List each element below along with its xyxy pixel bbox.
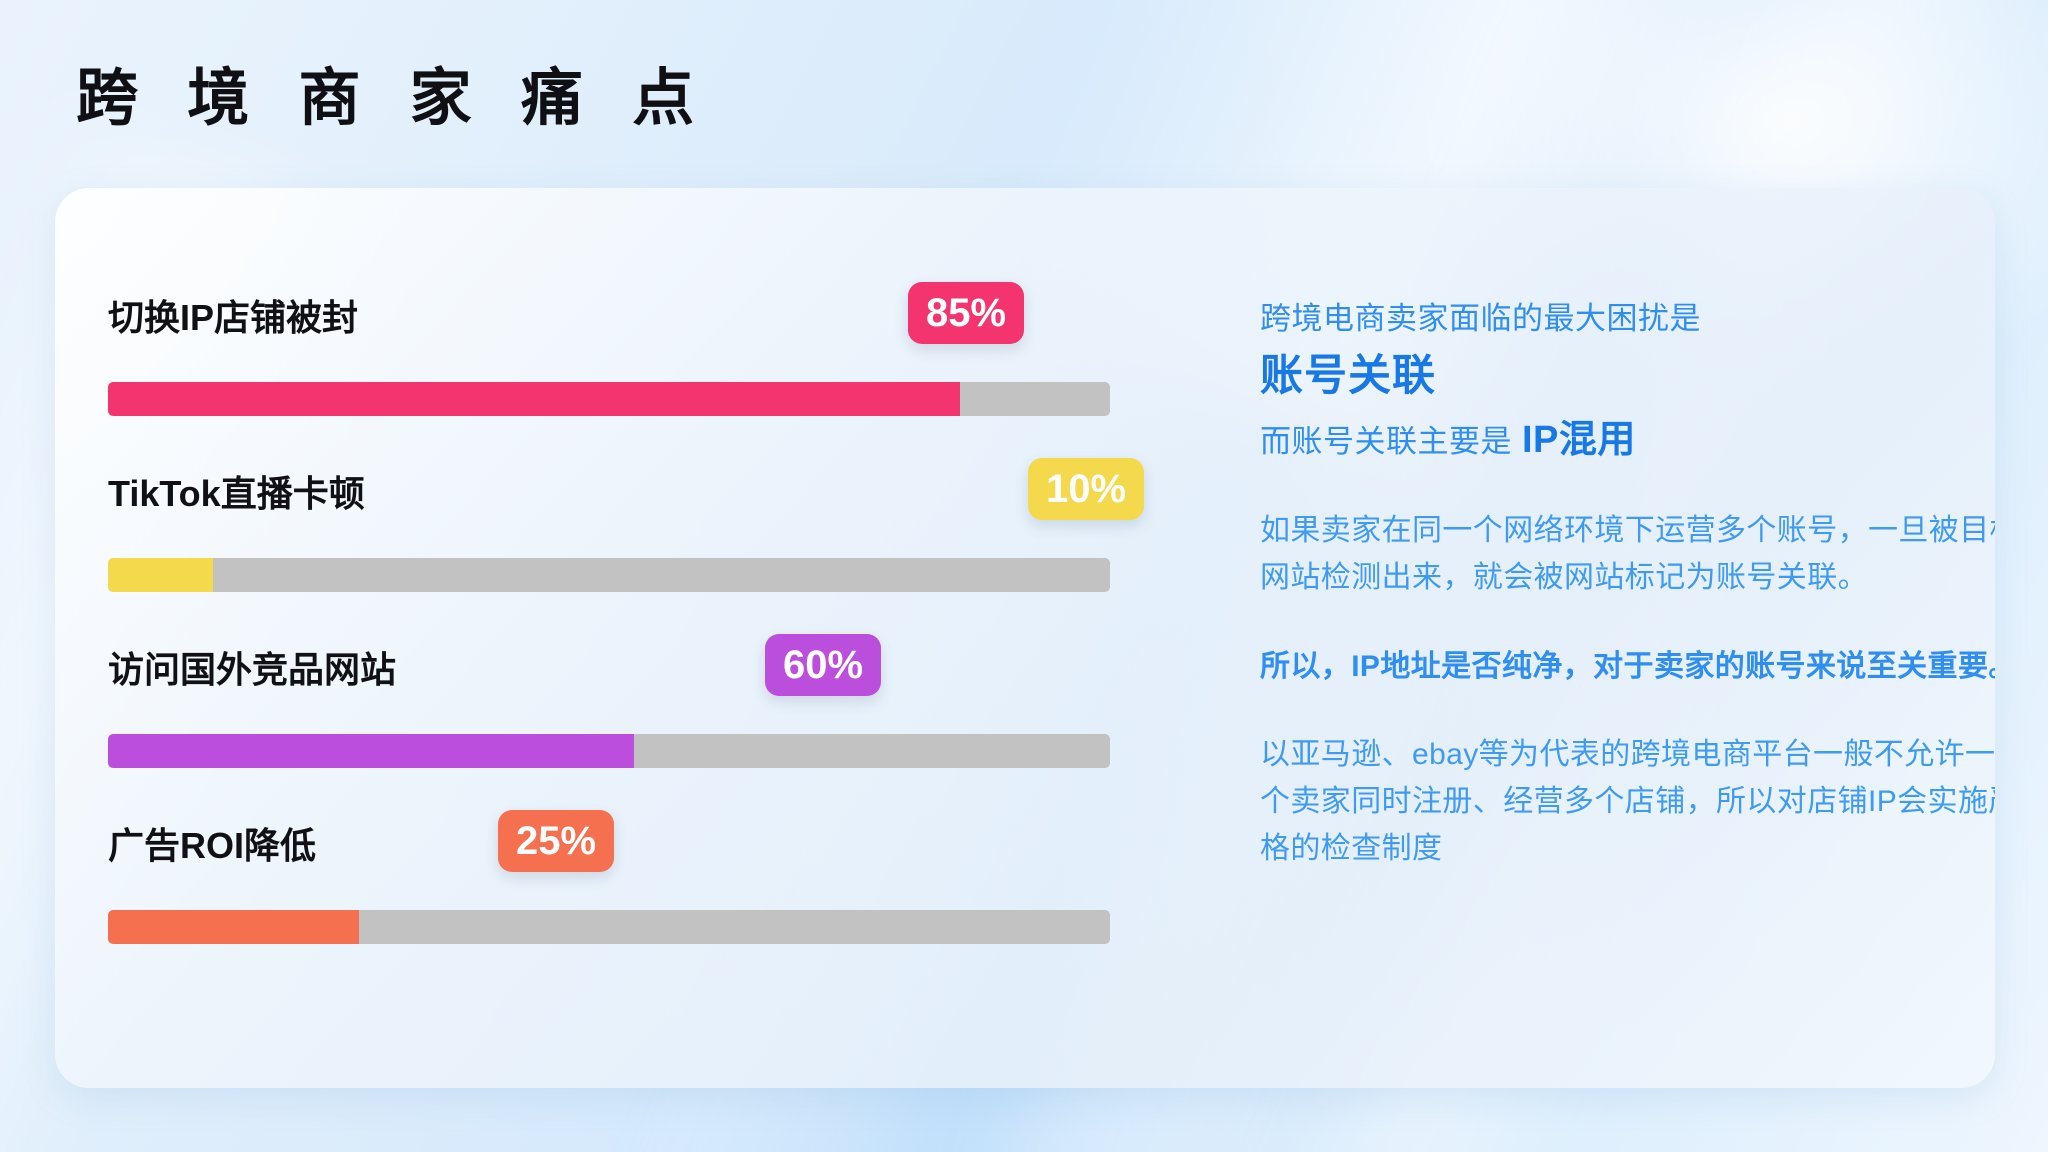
bar-row: 广告ROI降低 25% bbox=[108, 826, 1163, 1002]
pain-point-bar-chart: 切换IP店铺被封 85% TikTok直播卡顿 10% 访问国外竞品网站 60% bbox=[108, 298, 1163, 1002]
copy-paragraph-2: 所以，IP地址是否纯净，对于卖家的账号来说至关重要。 bbox=[1260, 644, 1995, 691]
bar-value-badge-2: 60% bbox=[765, 634, 881, 696]
explanation-panel: 跨境电商卖家面临的最大困扰是 账号关联 而账号关联主要是IP混用 如果卖家在同一… bbox=[1260, 298, 1995, 873]
copy-sub: 而账号关联主要是IP混用 bbox=[1260, 415, 1995, 466]
bar-track-2 bbox=[108, 734, 1110, 768]
bar-value-badge-0: 85% bbox=[908, 282, 1024, 344]
copy-lead: 跨境电商卖家面临的最大困扰是 bbox=[1260, 298, 1995, 340]
copy-sub-highlight: IP混用 bbox=[1522, 419, 1636, 461]
bar-value-badge-3: 25% bbox=[498, 810, 614, 872]
bar-label-1: TikTok直播卡顿 bbox=[108, 474, 365, 514]
copy-paragraph-3: 以亚马逊、ebay等为代表的跨境电商平台一般不允许一个卖家同时注册、经营多个店铺… bbox=[1260, 732, 1995, 872]
bar-fill-2 bbox=[108, 734, 634, 768]
bar-row: 访问国外竞品网站 60% bbox=[108, 650, 1163, 826]
copy-sub-prefix: 而账号关联主要是 bbox=[1260, 424, 1512, 459]
bar-row: 切换IP店铺被封 85% bbox=[108, 298, 1163, 474]
bar-track-1 bbox=[108, 558, 1110, 592]
bar-fill-0 bbox=[108, 382, 960, 416]
copy-paragraph-1: 如果卖家在同一个网络环境下运营多个账号，一旦被目标网站检测出来，就会被网站标记为… bbox=[1260, 508, 1995, 602]
page-title: 跨 境 商 家 痛 点 bbox=[76, 68, 710, 130]
bar-track-3 bbox=[108, 910, 1110, 944]
bar-label-2: 访问国外竞品网站 bbox=[108, 650, 396, 690]
bar-label-3: 广告ROI降低 bbox=[108, 826, 316, 866]
bar-value-badge-1: 10% bbox=[1028, 458, 1144, 520]
bar-fill-3 bbox=[108, 910, 359, 944]
copy-hero: 账号关联 bbox=[1260, 348, 1995, 406]
bar-label-0: 切换IP店铺被封 bbox=[108, 298, 358, 338]
bar-row: TikTok直播卡顿 10% bbox=[108, 474, 1163, 650]
bar-track-0 bbox=[108, 382, 1110, 416]
slide-root: 跨 境 商 家 痛 点 切换IP店铺被封 85% TikTok直播卡顿 10% … bbox=[0, 0, 2048, 1152]
content-card: 切换IP店铺被封 85% TikTok直播卡顿 10% 访问国外竞品网站 60% bbox=[55, 188, 1995, 1088]
bar-fill-1 bbox=[108, 558, 213, 592]
